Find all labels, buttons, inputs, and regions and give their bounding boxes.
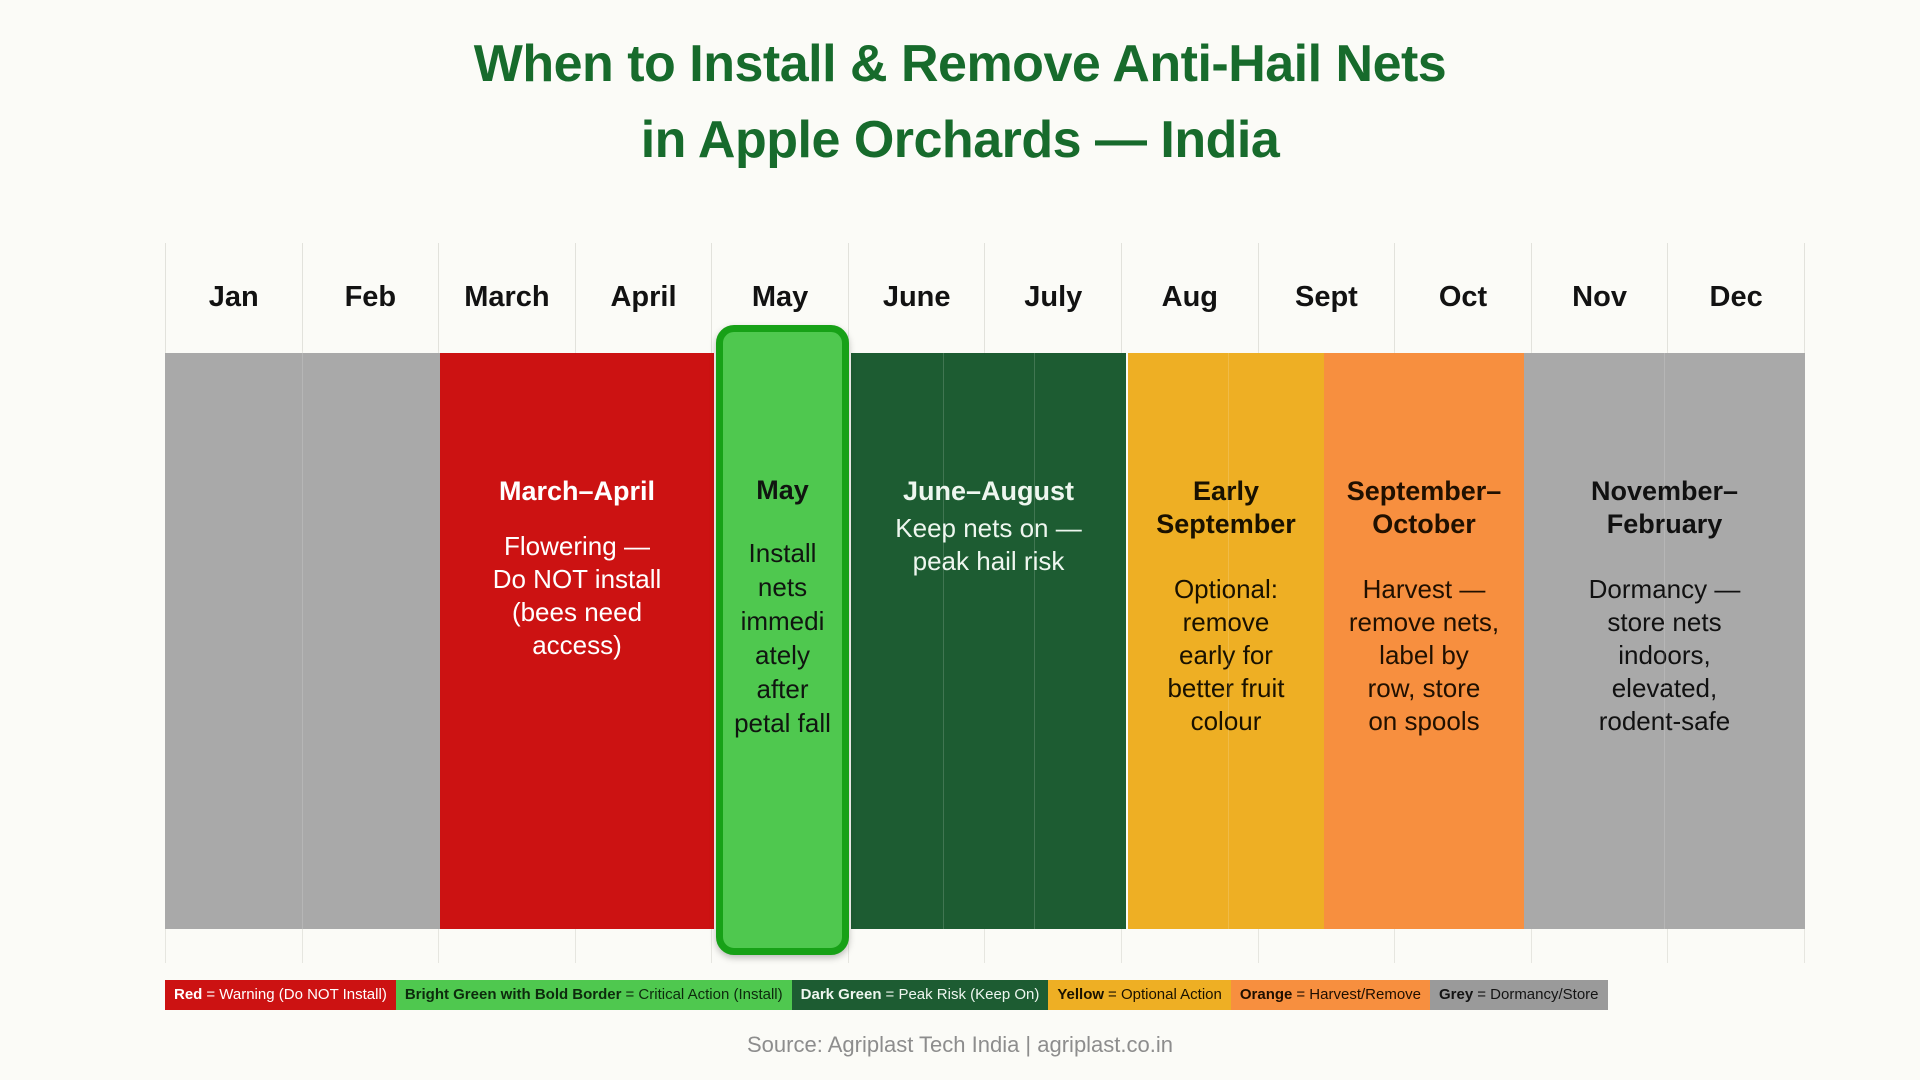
month-header-dec: Dec — [1667, 243, 1805, 351]
segment-body: Flowering — Do NOT install (bees need ac… — [493, 530, 662, 662]
source-footer: Source: Agriplast Tech India | agriplast… — [0, 1032, 1920, 1058]
title-line-2: in Apple Orchards — India — [0, 102, 1920, 178]
legend-text: = Warning (Do NOT Install) — [206, 980, 386, 1010]
segment-divider — [302, 353, 303, 929]
segment-body: Keep nets on — peak hail risk — [895, 512, 1081, 578]
month-header-march: March — [438, 243, 575, 351]
segment-flowering-march-april: March–April Flowering — Do NOT install (… — [440, 353, 714, 929]
month-header-oct: Oct — [1394, 243, 1531, 351]
legend-text: = Dormancy/Store — [1477, 980, 1598, 1010]
month-header-jan: Jan — [165, 243, 302, 351]
legend-key: Grey — [1439, 980, 1473, 1010]
legend-text: = Peak Risk (Keep On) — [886, 980, 1040, 1010]
segment-heading: March–April — [499, 475, 655, 508]
segment-dormancy-november-february: November– February Dormancy — store nets… — [1524, 353, 1805, 929]
legend-text: = Optional Action — [1108, 980, 1222, 1010]
legend-item-orange: Orange= Harvest/Remove — [1231, 980, 1430, 1010]
legend-key: Dark Green — [801, 980, 882, 1010]
month-header-nov: Nov — [1531, 243, 1668, 351]
segment-install-may-highlighted[interactable]: May Install nets immedi ately after peta… — [716, 325, 849, 955]
legend-text: = Harvest/Remove — [1296, 980, 1421, 1010]
month-header-june: June — [848, 243, 985, 351]
legend-key: Bright Green with Bold Border — [405, 980, 622, 1010]
segment-body: Harvest — remove nets, label by row, sto… — [1349, 573, 1499, 738]
month-header-april: April — [575, 243, 712, 351]
segment-body: Dormancy — store nets indoors, elevated,… — [1589, 573, 1741, 738]
segment-divider — [943, 353, 944, 929]
legend-key: Red — [174, 980, 202, 1010]
segment-heading: November– February — [1591, 475, 1738, 541]
month-header-aug: Aug — [1121, 243, 1258, 351]
month-header-row: Jan Feb March April May June July Aug Se… — [165, 243, 1805, 351]
legend-item-dark-green: Dark Green= Peak Risk (Keep On) — [792, 980, 1049, 1010]
segment-heading: May — [756, 474, 809, 506]
page-title: When to Install & Remove Anti-Hail Nets … — [0, 26, 1920, 178]
month-header-july: July — [984, 243, 1121, 351]
segment-heading: Early September — [1156, 475, 1296, 541]
legend-key: Orange — [1240, 980, 1293, 1010]
legend-key: Yellow — [1057, 980, 1104, 1010]
legend-item-yellow: Yellow= Optional Action — [1048, 980, 1231, 1010]
segment-harvest-september-october: September– October Harvest — remove nets… — [1324, 353, 1524, 929]
segment-divider — [1034, 353, 1035, 929]
segment-optional-early-september: Early September Optional: remove early f… — [1128, 353, 1324, 929]
timeline-band: March–April Flowering — Do NOT install (… — [165, 353, 1805, 929]
timeline-chart: Jan Feb March April May June July Aug Se… — [165, 243, 1805, 963]
legend-item-bright-green: Bright Green with Bold Border= Critical … — [396, 980, 792, 1010]
legend-text: = Critical Action (Install) — [626, 980, 783, 1010]
segment-peak-risk-june-august: June–August Keep nets on — peak hail ris… — [851, 353, 1126, 929]
segment-heading: September– October — [1347, 475, 1502, 541]
legend-item-grey: Grey= Dormancy/Store — [1430, 980, 1608, 1010]
title-line-1: When to Install & Remove Anti-Hail Nets — [0, 26, 1920, 102]
segment-body: Optional: remove early for better fruit … — [1167, 573, 1284, 738]
legend: Red= Warning (Do NOT Install) Bright Gre… — [165, 980, 1805, 1010]
segment-dormancy-jan-feb — [165, 353, 440, 929]
segment-body: Install nets immedi ately after petal fa… — [734, 536, 831, 740]
segment-heading: June–August — [903, 475, 1074, 508]
legend-item-red: Red= Warning (Do NOT Install) — [165, 980, 396, 1010]
month-header-feb: Feb — [302, 243, 439, 351]
infographic-page: When to Install & Remove Anti-Hail Nets … — [0, 0, 1920, 1080]
month-header-sept: Sept — [1258, 243, 1395, 351]
